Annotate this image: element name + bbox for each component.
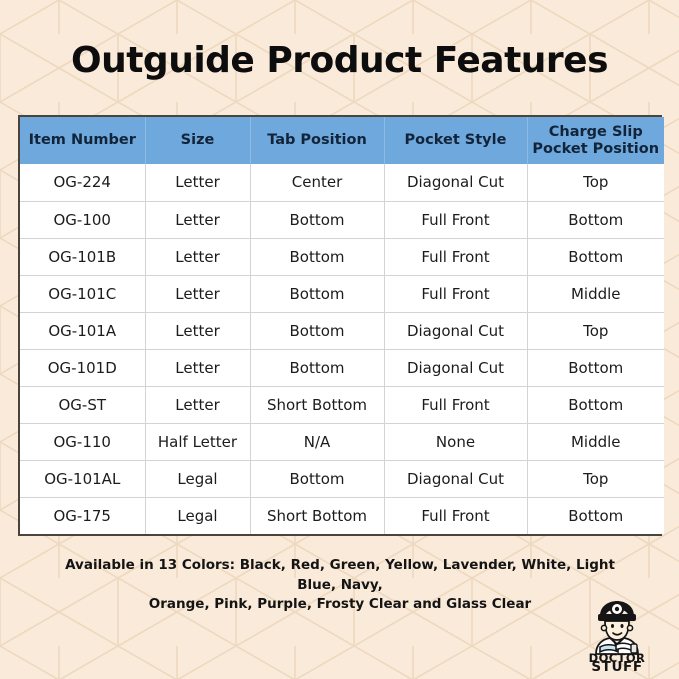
cell-pocket-style: Full Front bbox=[384, 275, 527, 312]
cell-size: Letter bbox=[145, 275, 250, 312]
cell-charge-slip-pocket-position: Bottom bbox=[527, 497, 664, 534]
cell-size: Letter bbox=[145, 201, 250, 238]
cell-tab-position: Bottom bbox=[250, 201, 384, 238]
cell-item-number: OG-101B bbox=[20, 238, 145, 275]
cell-tab-position: Bottom bbox=[250, 460, 384, 497]
cell-tab-position: Bottom bbox=[250, 349, 384, 386]
column-header-tab-position: Tab Position bbox=[250, 117, 384, 164]
cell-item-number: OG-101D bbox=[20, 349, 145, 386]
cell-item-number: OG-110 bbox=[20, 423, 145, 460]
cell-size: Letter bbox=[145, 164, 250, 201]
outguide-features-table: Item Number Size Tab Position Pocket Sty… bbox=[20, 117, 664, 534]
cell-size: Letter bbox=[145, 238, 250, 275]
table-row: OG-101B Letter Bottom Full Front Bottom bbox=[20, 238, 664, 275]
cell-tab-position: Short Bottom bbox=[250, 497, 384, 534]
cell-pocket-style: Diagonal Cut bbox=[384, 349, 527, 386]
cell-charge-slip-pocket-position: Bottom bbox=[527, 238, 664, 275]
cell-charge-slip-pocket-position: Bottom bbox=[527, 386, 664, 423]
available-colors-line-1: Available in 13 Colors: Black, Red, Gree… bbox=[60, 556, 620, 595]
cell-size: Half Letter bbox=[145, 423, 250, 460]
column-header-charge-slip-pocket-position: Charge Slip Pocket Position bbox=[527, 117, 664, 164]
features-table-container: Item Number Size Tab Position Pocket Sty… bbox=[18, 115, 662, 536]
cell-charge-slip-pocket-position: Top bbox=[527, 312, 664, 349]
cell-tab-position: Bottom bbox=[250, 275, 384, 312]
cell-item-number: OG-100 bbox=[20, 201, 145, 238]
cell-charge-slip-pocket-position: Bottom bbox=[527, 201, 664, 238]
cell-item-number: OG-101C bbox=[20, 275, 145, 312]
header-row: Item Number Size Tab Position Pocket Sty… bbox=[20, 117, 664, 164]
table-row: OG-224 Letter Center Diagonal Cut Top bbox=[20, 164, 664, 201]
cell-tab-position: Bottom bbox=[250, 312, 384, 349]
logo-name-bottom: STUFF bbox=[591, 659, 642, 671]
table-row: OG-101D Letter Bottom Diagonal Cut Botto… bbox=[20, 349, 664, 386]
available-colors-note: Available in 13 Colors: Black, Red, Gree… bbox=[60, 556, 620, 615]
table-row: OG-175 Legal Short Bottom Full Front Bot… bbox=[20, 497, 664, 534]
table-row: OG-ST Letter Short Bottom Full Front Bot… bbox=[20, 386, 664, 423]
cell-tab-position: Short Bottom bbox=[250, 386, 384, 423]
cell-tab-position: Center bbox=[250, 164, 384, 201]
table-row: OG-100 Letter Bottom Full Front Bottom bbox=[20, 201, 664, 238]
table-header: Item Number Size Tab Position Pocket Sty… bbox=[20, 117, 664, 164]
column-header-item-number: Item Number bbox=[20, 117, 145, 164]
table-row: OG-101AL Legal Bottom Diagonal Cut Top bbox=[20, 460, 664, 497]
table-row: OG-110 Half Letter N/A None Middle bbox=[20, 423, 664, 460]
cell-pocket-style: Diagonal Cut bbox=[384, 164, 527, 201]
cell-tab-position: N/A bbox=[250, 423, 384, 460]
table-body: OG-224 Letter Center Diagonal Cut Top OG… bbox=[20, 164, 664, 534]
cell-item-number: OG-224 bbox=[20, 164, 145, 201]
cell-pocket-style: Full Front bbox=[384, 201, 527, 238]
cell-size: Letter bbox=[145, 349, 250, 386]
column-header-pocket-style: Pocket Style bbox=[384, 117, 527, 164]
cell-pocket-style: Diagonal Cut bbox=[384, 312, 527, 349]
cell-charge-slip-pocket-position: Top bbox=[527, 460, 664, 497]
cell-charge-slip-pocket-position: Middle bbox=[527, 423, 664, 460]
cell-item-number: OG-101A bbox=[20, 312, 145, 349]
table-row: OG-101C Letter Bottom Full Front Middle bbox=[20, 275, 664, 312]
cell-size: Legal bbox=[145, 497, 250, 534]
cell-charge-slip-pocket-position: Bottom bbox=[527, 349, 664, 386]
available-colors-line-2: Orange, Pink, Purple, Frosty Clear and G… bbox=[60, 595, 620, 615]
doctor-stuff-logo: DOCTOR STUFF bbox=[569, 597, 665, 671]
doctor-stuff-logo-icon: DOCTOR STUFF bbox=[569, 597, 665, 671]
cell-item-number: OG-175 bbox=[20, 497, 145, 534]
column-header-size: Size bbox=[145, 117, 250, 164]
table-row: OG-101A Letter Bottom Diagonal Cut Top bbox=[20, 312, 664, 349]
page-title: Outguide Product Features bbox=[0, 40, 679, 81]
cell-pocket-style: Diagonal Cut bbox=[384, 460, 527, 497]
doctor-figure-icon bbox=[596, 601, 638, 654]
cell-pocket-style: Full Front bbox=[384, 497, 527, 534]
cell-pocket-style: Full Front bbox=[384, 386, 527, 423]
cell-charge-slip-pocket-position: Middle bbox=[527, 275, 664, 312]
cell-size: Legal bbox=[145, 460, 250, 497]
cell-tab-position: Bottom bbox=[250, 238, 384, 275]
cell-size: Letter bbox=[145, 312, 250, 349]
cell-item-number: OG-ST bbox=[20, 386, 145, 423]
cell-size: Letter bbox=[145, 386, 250, 423]
cell-pocket-style: None bbox=[384, 423, 527, 460]
cell-pocket-style: Full Front bbox=[384, 238, 527, 275]
cell-charge-slip-pocket-position: Top bbox=[527, 164, 664, 201]
cell-item-number: OG-101AL bbox=[20, 460, 145, 497]
